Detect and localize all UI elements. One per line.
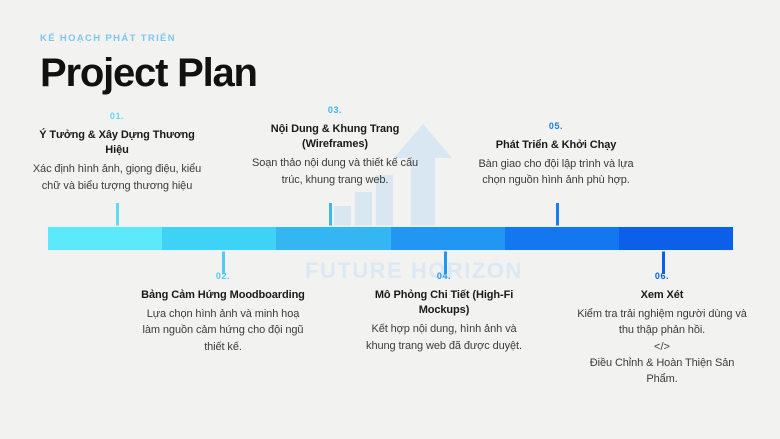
step-number-01: 01. bbox=[31, 112, 203, 121]
step-body-04: Kết hợp nội dung, hình ảnh và khung tran… bbox=[358, 321, 530, 354]
timeline-segment-01[interactable] bbox=[48, 227, 162, 250]
step-number-06: 06. bbox=[576, 272, 748, 281]
step-heading-05: Phát Triển & Khởi Chạy bbox=[470, 138, 642, 153]
timeline-segment-04[interactable] bbox=[391, 227, 505, 250]
step-body-03: Soạn thảo nội dung và thiết kế cấu trúc,… bbox=[249, 155, 421, 188]
timeline-segment-06[interactable] bbox=[619, 227, 733, 250]
step-number-03: 03. bbox=[249, 106, 421, 115]
step-block-01[interactable]: 01. Ý Tưởng & Xây Dựng Thương Hiệu Xác đ… bbox=[31, 112, 203, 194]
step-body-02: Lựa chọn hình ảnh và minh hoạ làm nguồn … bbox=[137, 306, 309, 355]
step-block-02[interactable]: 02. Bảng Cảm Hứng Moodboarding Lựa chọn … bbox=[137, 272, 309, 355]
step-body-06: Kiểm tra trải nghiệm người dùng và thu t… bbox=[576, 306, 748, 339]
step-heading-02: Bảng Cảm Hứng Moodboarding bbox=[137, 288, 309, 303]
step-number-04: 04. bbox=[358, 272, 530, 281]
step-heading-01: Ý Tưởng & Xây Dựng Thương Hiệu bbox=[31, 128, 203, 158]
step-block-04[interactable]: 04. Mô Phỏng Chi Tiết (High-Fi Mockups) … bbox=[358, 272, 530, 354]
tick-connector-01 bbox=[116, 203, 119, 227]
step-number-02: 02. bbox=[137, 272, 309, 281]
step-heading-04: Mô Phỏng Chi Tiết (High-Fi Mockups) bbox=[358, 288, 530, 318]
tick-connector-03 bbox=[329, 203, 332, 227]
eyebrow-label: KẾ HOẠCH PHÁT TRIỂN bbox=[40, 34, 257, 44]
timeline-progress-bar[interactable] bbox=[48, 227, 733, 250]
timeline-segment-03[interactable] bbox=[276, 227, 390, 250]
tick-connector-05 bbox=[556, 203, 559, 227]
timeline-segment-05[interactable] bbox=[505, 227, 619, 250]
step-body-05: Bàn giao cho đội lập trình và lựa chọn n… bbox=[470, 156, 642, 189]
growth-bar-2 bbox=[355, 192, 372, 230]
code-glyph-icon: </> bbox=[576, 339, 748, 355]
step-body-01: Xác định hình ảnh, giọng điệu, kiểu chữ … bbox=[31, 161, 203, 194]
step-block-03[interactable]: 03. Nội Dung & Khung Trang (Wireframes) … bbox=[249, 106, 421, 188]
step-number-05: 05. bbox=[470, 122, 642, 131]
slide-canvas: KẾ HOẠCH PHÁT TRIỂN Project Plan FUTURE … bbox=[0, 0, 780, 439]
slide-header: KẾ HOẠCH PHÁT TRIỂN Project Plan bbox=[40, 34, 257, 94]
timeline-segment-02[interactable] bbox=[162, 227, 276, 250]
page-title: Project Plan bbox=[40, 52, 257, 94]
step-body2-06: Điều Chỉnh & Hoàn Thiện Sản Phẩm. bbox=[576, 355, 748, 388]
step-block-05[interactable]: 05. Phát Triển & Khởi Chạy Bàn giao cho … bbox=[470, 122, 642, 189]
step-heading-06: Xem Xét bbox=[576, 288, 748, 303]
step-block-06[interactable]: 06. Xem Xét Kiểm tra trải nghiệm người d… bbox=[576, 272, 748, 388]
step-heading-03: Nội Dung & Khung Trang (Wireframes) bbox=[249, 122, 421, 152]
